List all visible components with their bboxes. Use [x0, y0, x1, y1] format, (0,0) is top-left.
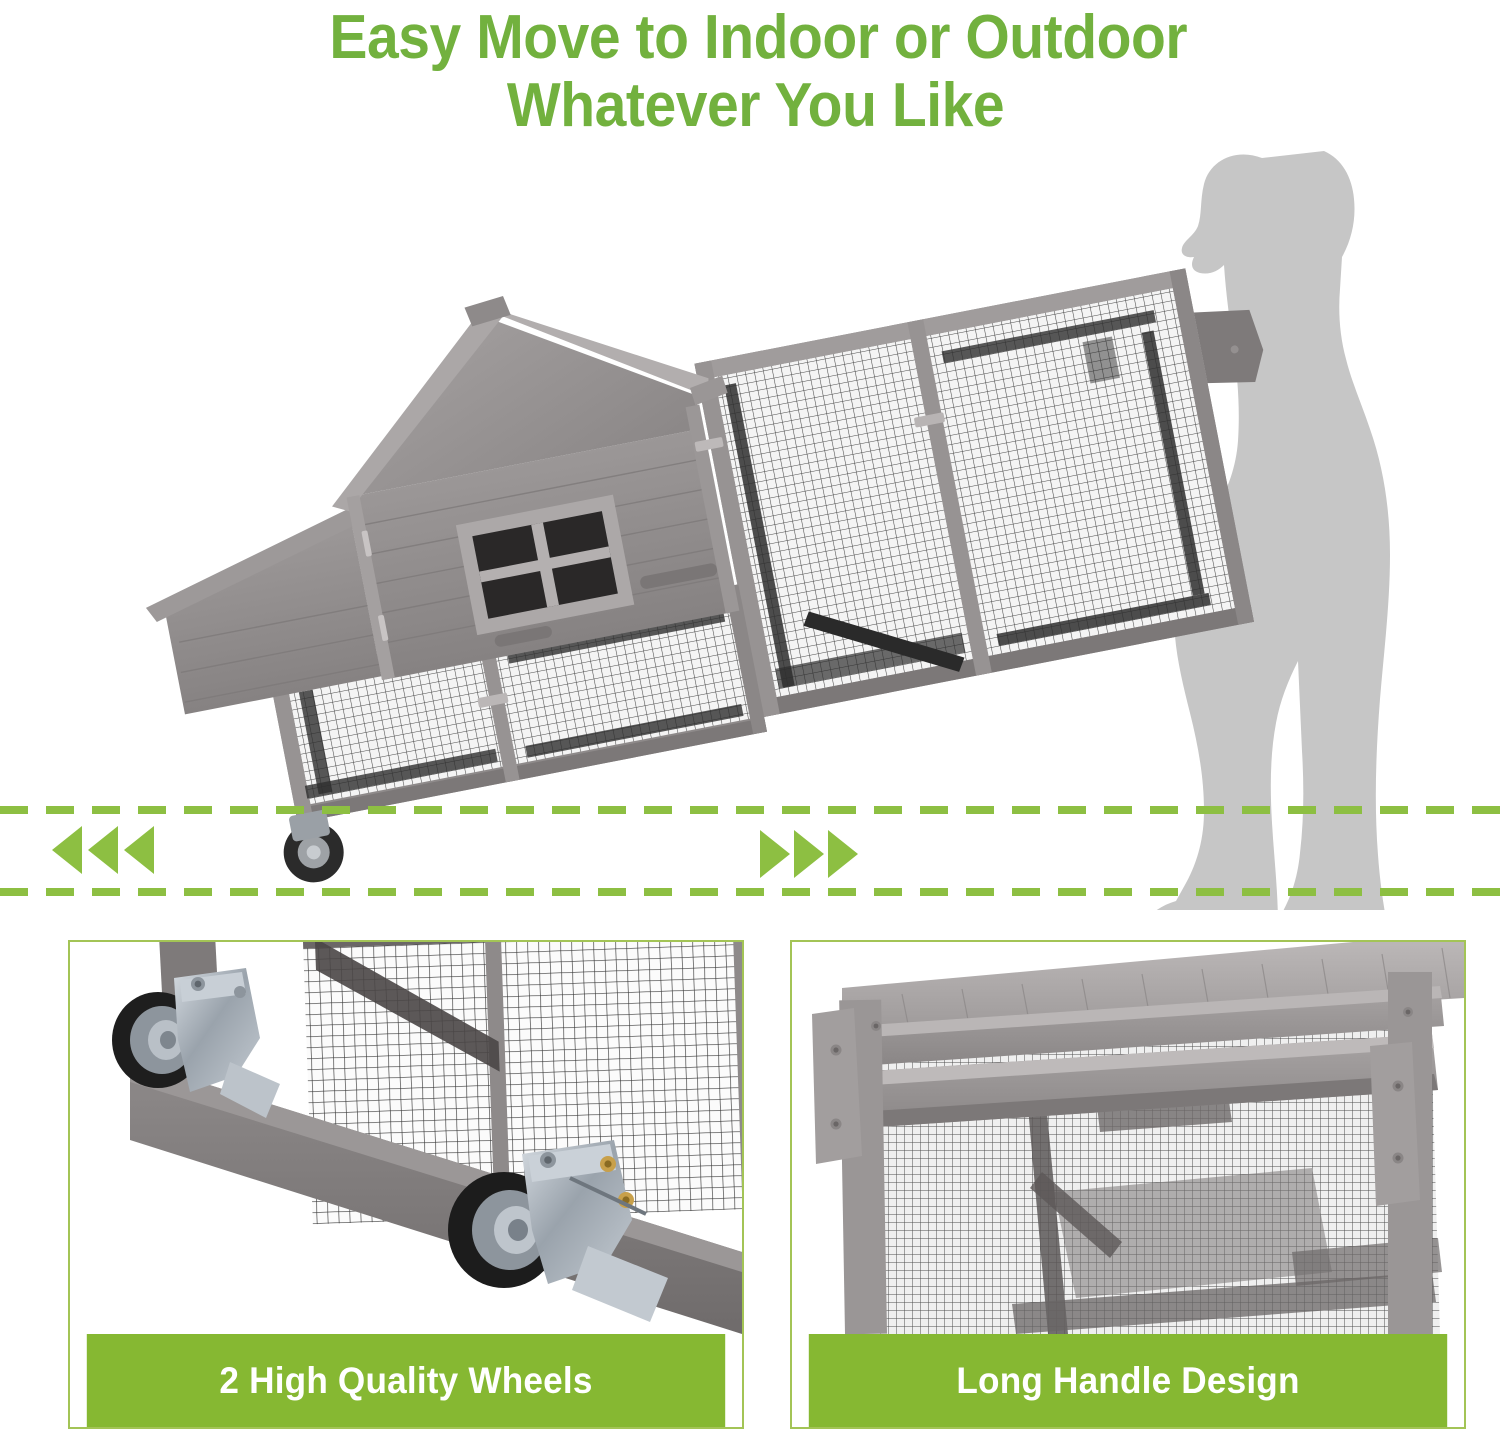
caster-wheel-icon — [277, 807, 349, 887]
panel-caption-wheels: 2 High Quality Wheels — [87, 1334, 725, 1427]
long-handle-photo — [792, 942, 1464, 1334]
page-title: Easy Move to Indoor or Outdoor Whatever … — [60, 0, 1440, 140]
chevron-left-triple-icon — [52, 826, 154, 874]
hero-illustration — [0, 150, 1500, 910]
road-dash-top — [0, 806, 1500, 814]
road-dash-bottom — [0, 888, 1500, 896]
product-feature-image: Easy Move to Indoor or Outdoor Whatever … — [0, 0, 1500, 1429]
panel-caption-handle: Long Handle Design — [809, 1334, 1447, 1427]
chevron-right-triple-icon — [760, 830, 858, 878]
caster-wheels-photo — [70, 942, 742, 1334]
feature-panel-handle: Long Handle Design — [790, 940, 1466, 1429]
headline-line-2: Whatever You Like — [60, 72, 1440, 140]
feature-panel-wheels: 2 High Quality Wheels — [68, 940, 744, 1429]
headline-line-1: Easy Move to Indoor or Outdoor — [60, 4, 1440, 72]
chicken-coop-icon — [101, 156, 1329, 905]
